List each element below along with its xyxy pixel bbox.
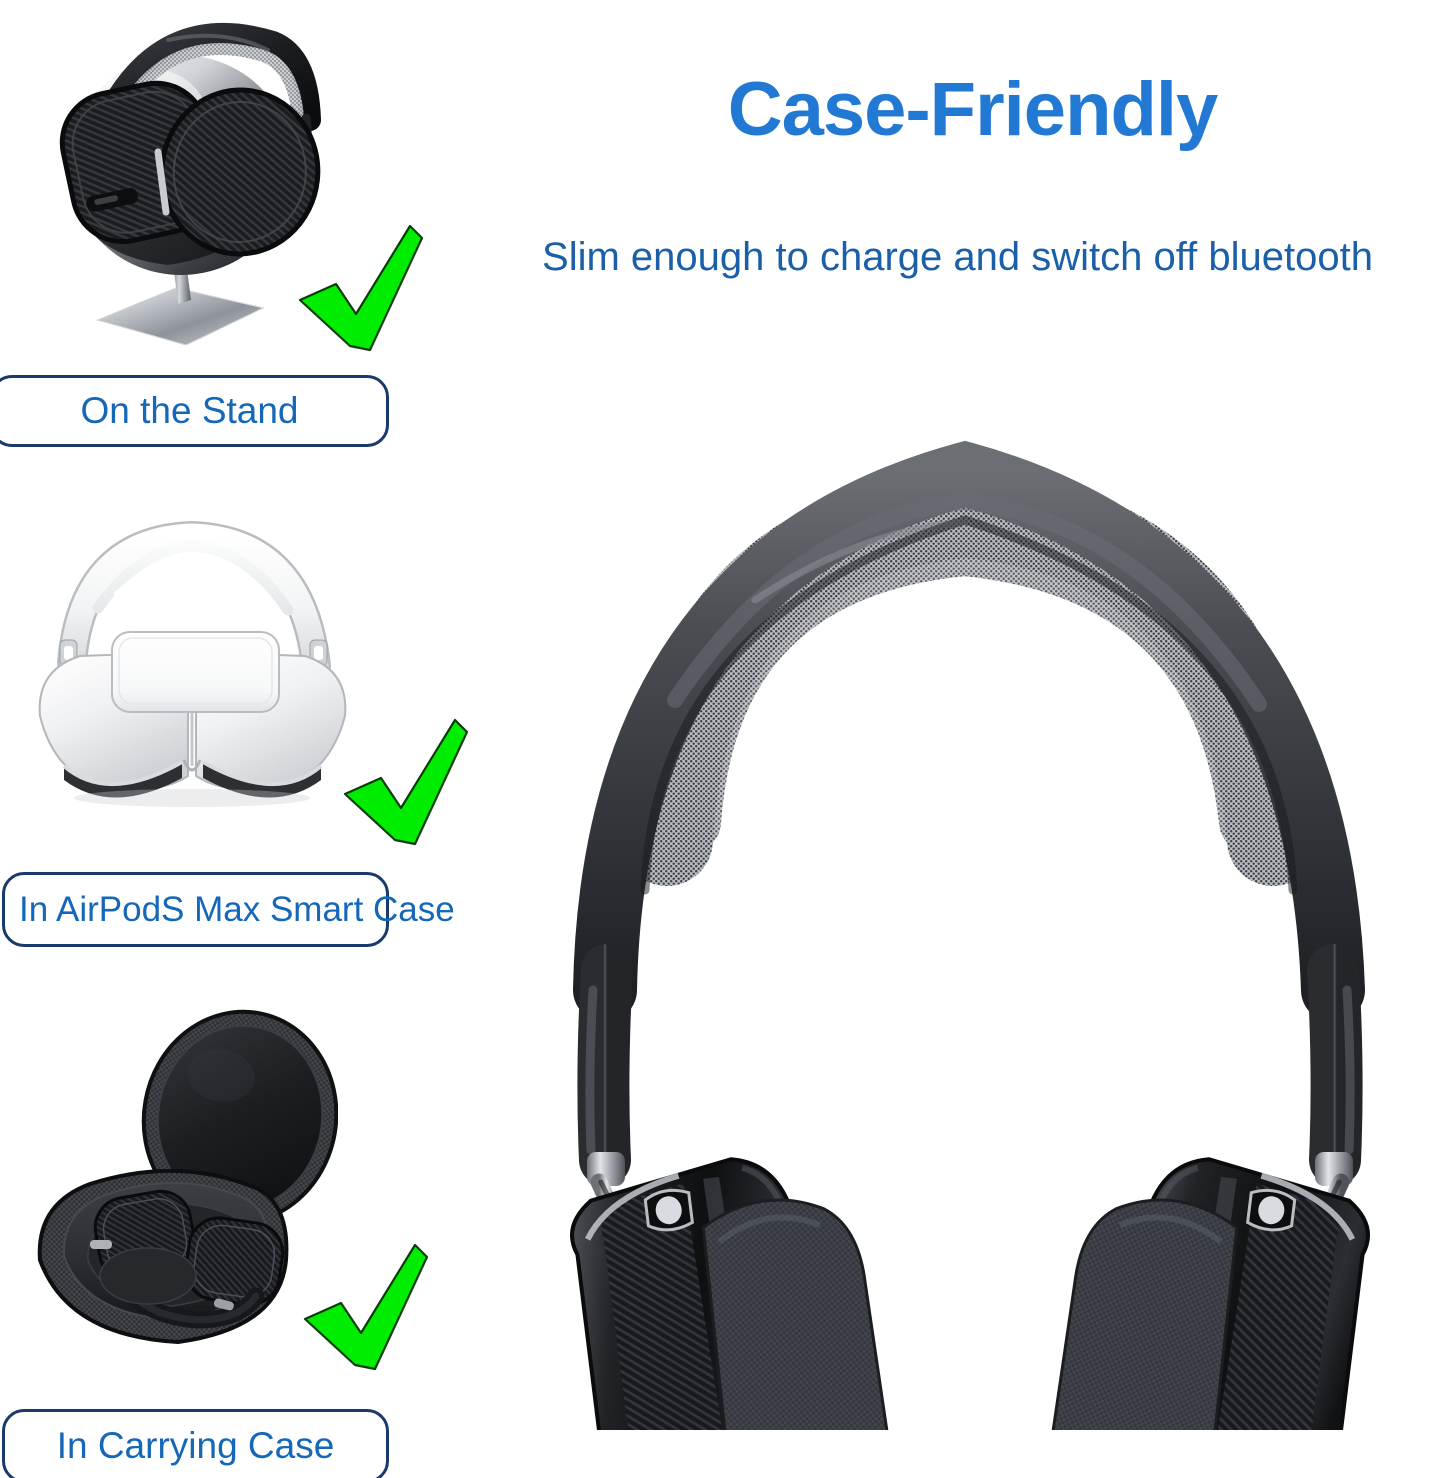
page-subtitle: Slim enough to charge and switch off blu…	[470, 235, 1445, 279]
page-title: Case-Friendly	[500, 72, 1445, 148]
feature-label-text: On the Stand	[80, 390, 298, 432]
headphones-on-stand-thumbnail	[18, 0, 338, 345]
airpods-max-hero-illustration	[495, 370, 1445, 1430]
carrying-case-open-illustration	[28, 1008, 338, 1383]
product-feature-image: Case-Friendly Slim enough to charge and …	[0, 0, 1445, 1478]
green-check-icon	[292, 222, 428, 358]
feature-label-text: In Carrying Case	[57, 1425, 335, 1467]
feature-label-in-carrying-case: In Carrying Case	[2, 1409, 389, 1478]
feature-label-on-the-stand: On the Stand	[0, 375, 389, 447]
airpods-max-smart-case-thumbnail	[20, 498, 365, 843]
airpods-max-with-case-hero-image	[495, 370, 1445, 1430]
carrying-case-open-thumbnail	[28, 1008, 338, 1383]
headphones-on-stand-illustration	[18, 0, 338, 345]
green-check-icon	[337, 716, 473, 852]
feature-label-in-airpods-max-smart-case: In AirPodS Max Smart Case	[2, 872, 389, 947]
airpods-max-smart-case-illustration	[20, 498, 365, 843]
feature-label-text: In AirPodS Max Smart Case	[19, 890, 455, 930]
green-check-icon	[297, 1241, 433, 1377]
